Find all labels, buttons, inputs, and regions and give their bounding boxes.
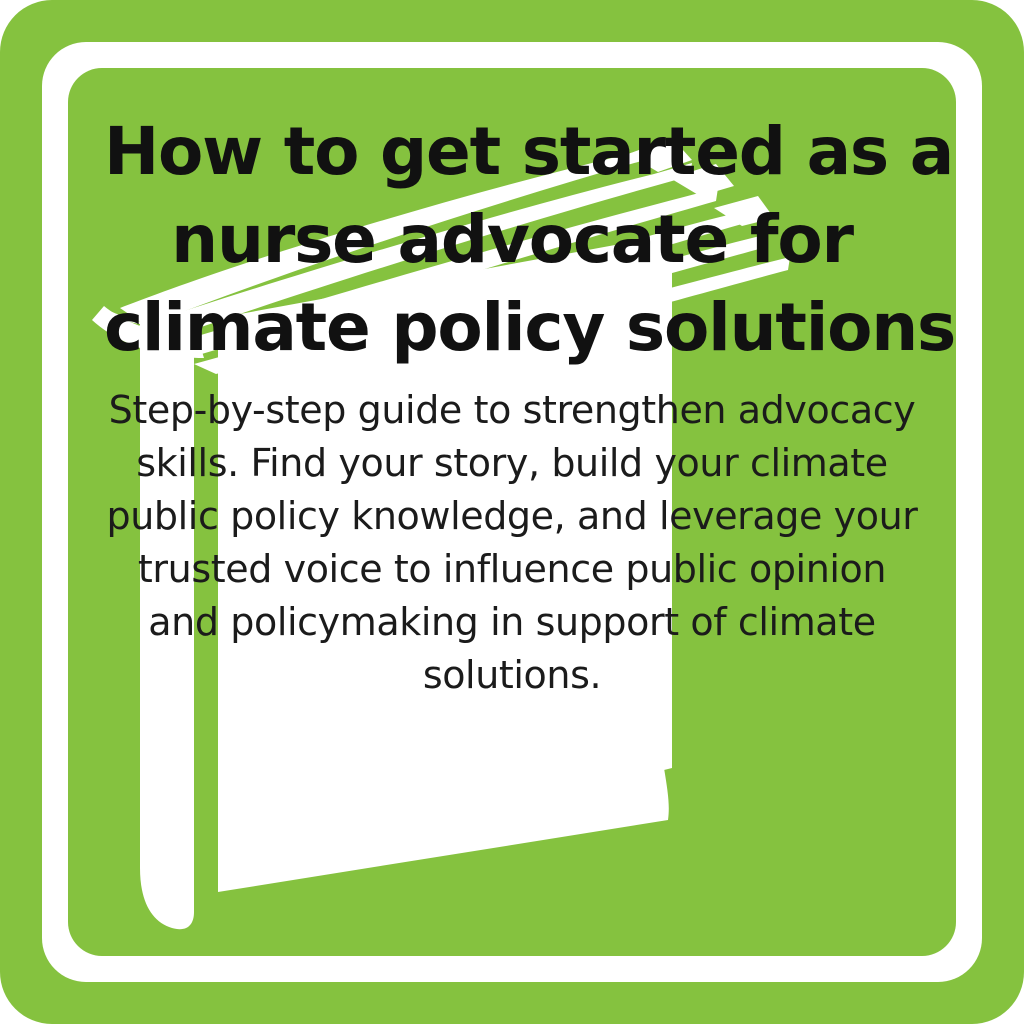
page-title: How to get started as a nurse advocate f… bbox=[104, 108, 920, 372]
description-line-6: solutions. bbox=[78, 649, 946, 702]
headline-line-1: How to get started as a bbox=[104, 108, 920, 196]
description-line-3: public policy knowledge, and leverage yo… bbox=[78, 490, 946, 543]
promo-card: How to get started as a nurse advocate f… bbox=[0, 0, 1024, 1024]
description-line-5: and policymaking in support of climate bbox=[78, 596, 946, 649]
card-content: How to get started as a nurse advocate f… bbox=[68, 68, 956, 956]
headline-line-2: nurse advocate for bbox=[104, 196, 920, 284]
description-text: Step-by-step guide to strengthen advocac… bbox=[78, 384, 946, 702]
description-line-2: skills. Find your story, build your clim… bbox=[78, 437, 946, 490]
card-inner-panel: How to get started as a nurse advocate f… bbox=[68, 68, 956, 956]
headline-line-3: climate policy solutions bbox=[104, 284, 920, 372]
description-line-4: trusted voice to influence public opinio… bbox=[78, 543, 946, 596]
description-line-1: Step-by-step guide to strengthen advocac… bbox=[78, 384, 946, 437]
